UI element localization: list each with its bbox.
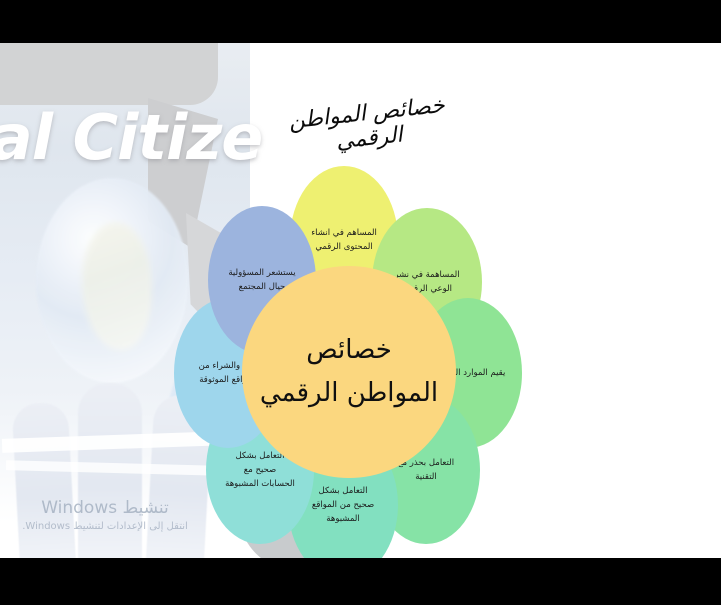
activation-title: تنشيط Windows [0, 498, 210, 518]
petal-label: المساهم في انشاء المحتوى الرقمي [311, 226, 377, 254]
letterbox-top [0, 0, 721, 43]
activation-subtitle: انتقل إلى الإعدادات لتنشيط Windows. [0, 521, 210, 532]
globe-image [36, 178, 188, 383]
petal-diagram: المساهم في انشاء المحتوى الرقمي المساهمة… [176, 158, 526, 558]
center-title-line-1: خصائص [306, 336, 392, 365]
slide-canvas: ital Citize خصائص المواطن الرقمي المساهم… [0, 43, 721, 558]
digital-citizen-wordmark: ital Citize [0, 101, 262, 174]
petal-label: التعامل بشكل صحيح من المواقع المشبوهة [312, 484, 374, 526]
center-title-line-2: المواطن الرقمي [260, 379, 438, 408]
presentation-stage: ital Citize خصائص المواطن الرقمي المساهم… [0, 0, 721, 605]
windows-activation-watermark: تنشيط Windows انتقل إلى الإعدادات لتنشيط… [0, 498, 210, 532]
background-gray-shard [0, 43, 218, 105]
letterbox-bottom [0, 558, 721, 605]
diagram-center-hub[interactable]: خصائص المواطن الرقمي [242, 266, 456, 478]
human-figure-silhouette [12, 402, 77, 558]
